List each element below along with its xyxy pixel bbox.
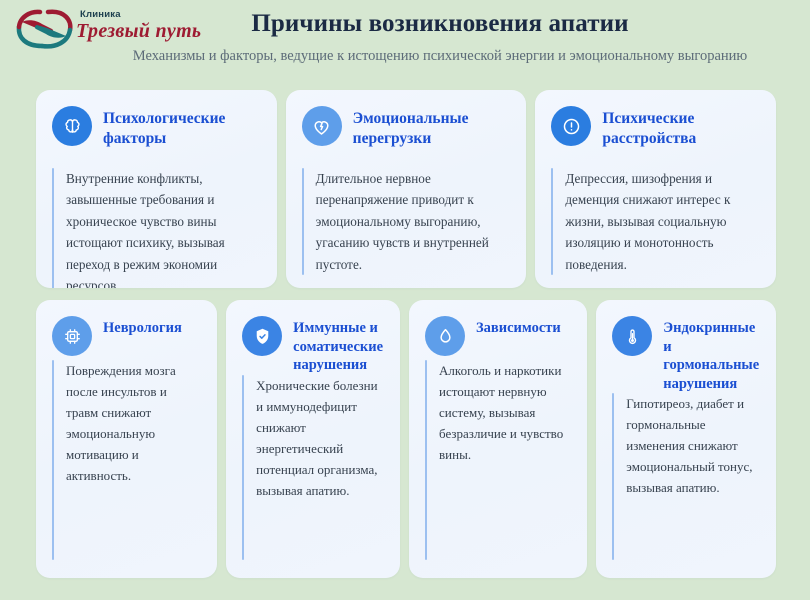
card-psychological-factors[interactable]: Психологические факторы Внутренние конфл…	[36, 90, 277, 288]
card-description: Депрессия, шизофрения и деменция снижают…	[553, 168, 760, 275]
card-header: Психические расстройства	[551, 106, 760, 150]
alert-circle-icon	[551, 106, 591, 146]
card-body: Внутренние конфликты, завышенные требова…	[52, 168, 261, 288]
card-description: Внутренние конфликты, завышенные требова…	[54, 168, 261, 288]
card-title: Иммунные и соматические нарушения	[293, 316, 384, 375]
chip-icon	[52, 316, 92, 356]
card-title: Эмоциональные перегрузки	[353, 106, 511, 149]
card-body: Хронические болезни и иммунодефицит сниж…	[242, 375, 384, 560]
shield-check-icon	[242, 316, 282, 356]
card-addictions[interactable]: Зависимости Алкоголь и наркотики истощаю…	[409, 300, 587, 578]
logo-brand-name: Трезвый путь	[76, 20, 201, 43]
card-neurology[interactable]: Неврология Повреждения мозга после инсул…	[36, 300, 217, 578]
clinic-logo[interactable]: Клиника Трезвый путь	[14, 6, 209, 52]
card-mental-disorders[interactable]: Психические расстройства Депрессия, шизо…	[535, 90, 776, 288]
card-description: Длительное нервное перенапряжение привод…	[304, 168, 511, 275]
page-header: Клиника Трезвый путь Причины возникновен…	[0, 0, 810, 68]
card-description: Повреждения мозга после инсультов и трав…	[54, 360, 201, 560]
card-title: Неврология	[103, 316, 182, 338]
card-title: Психологические факторы	[103, 106, 261, 149]
card-body: Алкоголь и наркотики истощают нервную си…	[425, 360, 571, 560]
hands-circle-logo-icon	[14, 8, 76, 50]
thermometer-icon	[612, 316, 652, 356]
card-title: Зависимости	[476, 316, 561, 338]
card-header: Эмоциональные перегрузки	[302, 106, 511, 150]
card-description: Гипотиреоз, диабет и гормональные измене…	[614, 393, 760, 560]
card-header: Неврология	[52, 316, 201, 360]
water-drop-icon	[425, 316, 465, 356]
card-description: Алкоголь и наркотики истощают нервную си…	[427, 360, 571, 560]
card-body: Длительное нервное перенапряжение привод…	[302, 168, 511, 275]
card-title: Эндокринные и гормональные нарушения	[663, 316, 760, 393]
card-emotional-overload[interactable]: Эмоциональные перегрузки Длительное нерв…	[286, 90, 527, 288]
card-body: Депрессия, шизофрения и деменция снижают…	[551, 168, 760, 275]
broken-heart-icon	[302, 106, 342, 146]
card-header: Психологические факторы	[52, 106, 261, 150]
card-immune-somatic[interactable]: Иммунные и соматические нарушения Хронич…	[226, 300, 400, 578]
card-header: Зависимости	[425, 316, 571, 360]
card-body: Повреждения мозга после инсультов и трав…	[52, 360, 201, 560]
card-title: Психические расстройства	[602, 106, 760, 149]
card-body: Гипотиреоз, диабет и гормональные измене…	[612, 393, 760, 560]
card-endocrine-hormonal[interactable]: Эндокринные и гормональные нарушения Гип…	[596, 300, 776, 578]
card-description: Хронические болезни и иммунодефицит сниж…	[244, 375, 384, 560]
brain-icon	[52, 106, 92, 146]
card-header: Эндокринные и гормональные нарушения	[612, 316, 760, 393]
logo-klinika-label: Клиника	[80, 9, 121, 20]
cards-row-bottom: Неврология Повреждения мозга после инсул…	[0, 288, 810, 578]
cards-row-top: Психологические факторы Внутренние конфл…	[0, 68, 810, 288]
card-header: Иммунные и соматические нарушения	[242, 316, 384, 375]
